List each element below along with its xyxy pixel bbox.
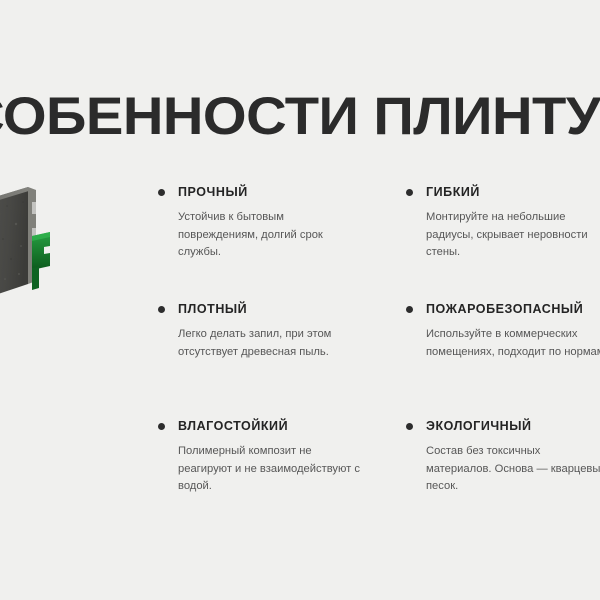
page-title-text: ОСОБЕННОСТИ ПЛИНТУСА bbox=[0, 88, 600, 146]
feature-title: ПЛОТНЫЙ bbox=[178, 302, 247, 317]
board-face bbox=[0, 187, 28, 296]
feature-description: Полимерный композит не реагируют и не вз… bbox=[178, 443, 360, 496]
feature-title: ГИБКИЙ bbox=[426, 185, 480, 200]
mounting-clip-tail bbox=[32, 267, 39, 290]
feature-item-moisture-resistant: ВЛАГОСТОЙКИЙ Полимерный композит не реаг… bbox=[158, 419, 363, 496]
bullet-icon bbox=[406, 306, 413, 313]
feature-heading-row: ВЛАГОСТОЙКИЙ bbox=[158, 419, 363, 434]
feature-title: ВЛАГОСТОЙКИЙ bbox=[178, 419, 288, 434]
slide-root: ОСОБЕННОСТИ ПЛИНТУСА bbox=[0, 0, 600, 600]
feature-item-strong: ПРОЧНЫЙ Устойчив к бытовым повреждениям,… bbox=[158, 185, 363, 262]
feature-title: ПРОЧНЫЙ bbox=[178, 185, 248, 200]
bullet-icon bbox=[158, 306, 165, 313]
feature-item-flexible: ГИБКИЙ Монтируйте на небольшие радиусы, … bbox=[406, 185, 600, 262]
skirting-board-icon bbox=[0, 184, 88, 302]
bullet-icon bbox=[158, 189, 165, 196]
feature-heading-row: ПРОЧНЫЙ bbox=[158, 185, 363, 200]
feature-description: Устойчив к бытовым повреждениям, долгий … bbox=[178, 209, 360, 262]
feature-description: Состав без токсичных материалов. Основа … bbox=[426, 443, 600, 496]
page-title-band: ОСОБЕННОСТИ ПЛИНТУСА bbox=[0, 86, 600, 148]
bullet-icon bbox=[406, 189, 413, 196]
feature-description: Легко делать запил, при этом отсутствует… bbox=[178, 326, 360, 361]
bullet-icon bbox=[158, 423, 165, 430]
feature-heading-row: ГИБКИЙ bbox=[406, 185, 600, 200]
page-title: ОСОБЕННОСТИ ПЛИНТУСА bbox=[0, 88, 600, 146]
feature-item-fireproof: ПОЖАРОБЕЗОПАСНЫЙ Используйте в коммерчес… bbox=[406, 302, 600, 361]
feature-title: ЭКОЛОГИЧНЫЙ bbox=[426, 419, 532, 434]
feature-title: ПОЖАРОБЕЗОПАСНЫЙ bbox=[426, 302, 583, 317]
feature-heading-row: ЭКОЛОГИЧНЫЙ bbox=[406, 419, 600, 434]
feature-item-eco: ЭКОЛОГИЧНЫЙ Состав без токсичных материа… bbox=[406, 419, 600, 496]
bullet-icon bbox=[406, 423, 413, 430]
product-image bbox=[0, 184, 88, 302]
feature-heading-row: ПОЖАРОБЕЗОПАСНЫЙ bbox=[406, 302, 600, 317]
feature-description: Используйте в коммерческих помещениях, п… bbox=[426, 326, 600, 361]
feature-item-dense: ПЛОТНЫЙ Легко делать запил, при этом отс… bbox=[158, 302, 363, 361]
feature-heading-row: ПЛОТНЫЙ bbox=[158, 302, 363, 317]
feature-description: Монтируйте на небольшие радиусы, скрывае… bbox=[426, 209, 600, 262]
